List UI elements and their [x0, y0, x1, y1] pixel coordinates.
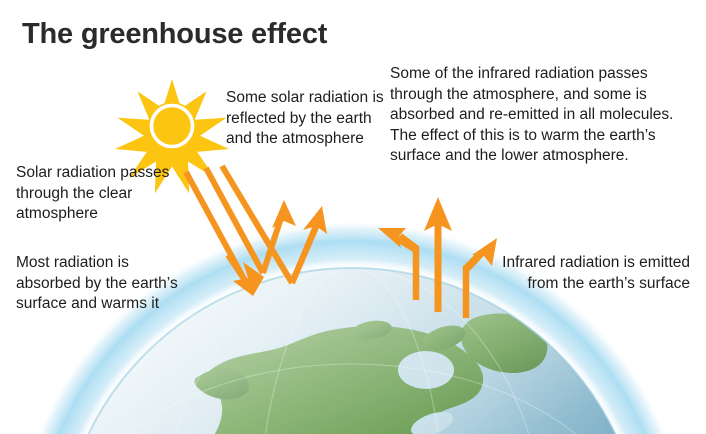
greenhouse-effect-diagram: The greenhouse effect Some solar radiati…	[0, 0, 706, 434]
caption-solar-radiation-passes: Solar radiation passes through the clear…	[16, 163, 196, 225]
caption-infrared-absorbed-reemitted: Some of the infrared radiation passes th…	[390, 64, 690, 167]
page-title: The greenhouse effect	[22, 18, 327, 51]
caption-reflected-solar-radiation: Some solar radiation is reflected by the…	[226, 88, 386, 150]
caption-infrared-radiation-emitted: Infrared radiation is emitted from the e…	[490, 253, 690, 294]
caption-most-radiation-absorbed: Most radiation is absorbed by the earth’…	[16, 253, 196, 315]
reflected-arrowhead-a	[272, 200, 296, 228]
